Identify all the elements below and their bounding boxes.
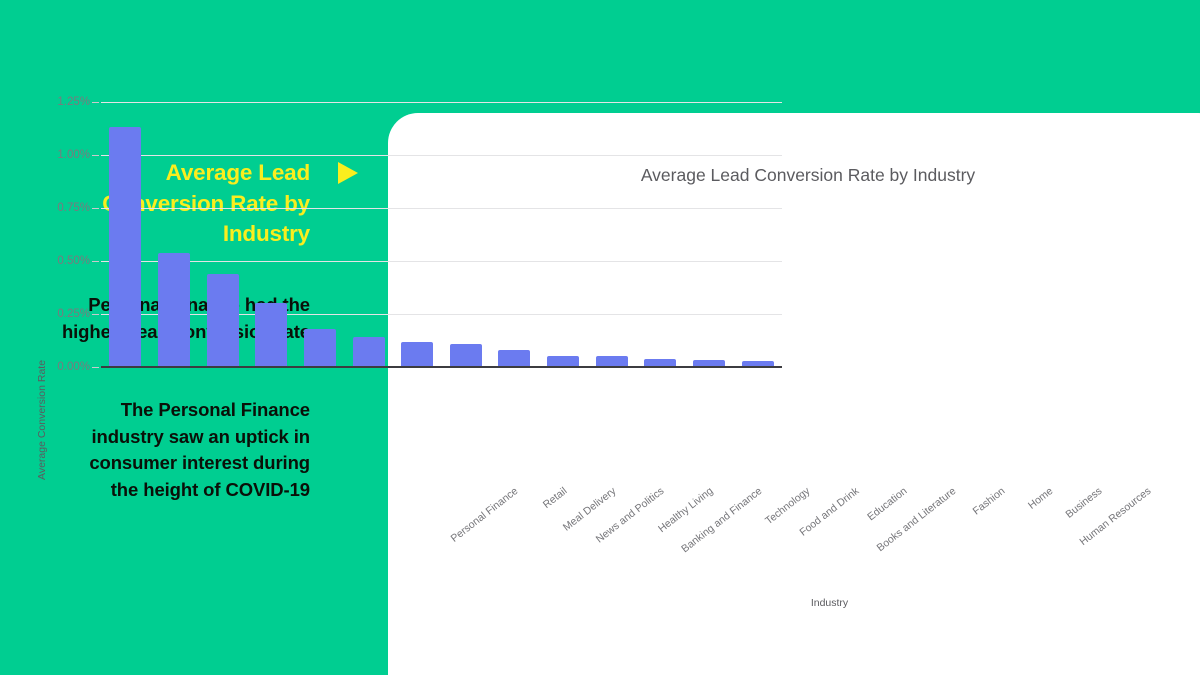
bar-slot [393,102,442,367]
bar-slot [296,102,345,367]
y-axis-tick-label: 0.00% [57,361,90,373]
x-axis-line [101,366,782,368]
y-axis-tick-mark [92,102,99,103]
bar[interactable] [401,342,433,367]
y-axis-tick-mark [92,314,99,315]
bar-slot [441,102,490,367]
x-axis-title: Industry [489,597,1170,609]
y-axis-title: Average Conversion Rate [36,215,48,480]
bar[interactable] [353,337,385,367]
y-axis-tick-mark [92,261,99,262]
bar[interactable] [498,350,530,367]
y-axis-tick-label: 1.00% [57,149,90,161]
y-axis-tick-mark [92,208,99,209]
insight-text-secondary: The Personal Finance industry saw an upt… [58,397,310,503]
bar[interactable] [158,253,190,367]
plot-area: 0.00%0.25%0.50%0.75%1.00%1.25% [101,102,782,367]
y-axis-tick-mark [92,155,99,156]
bar[interactable] [109,127,141,367]
x-axis-tick-label: Banking and Finance [679,485,764,555]
bar-series [101,102,782,367]
bar-slot [101,102,150,367]
x-axis-tick-label: Education [866,485,910,523]
y-axis-tick-mark [92,367,99,368]
bar-slot [685,102,734,367]
bar[interactable] [255,303,287,367]
bar-slot [733,102,782,367]
x-axis-tick-label: Fashion [970,485,1007,517]
bar[interactable] [207,274,239,367]
x-axis-tick-label: Home [1026,485,1055,512]
x-axis-tick-labels: Personal FinanceRetailMeal DeliveryNews … [489,482,1170,582]
bar-slot [587,102,636,367]
y-axis-tick-label: 0.50% [57,255,90,267]
bar-slot [198,102,247,367]
x-axis-tick-label: Business [1063,485,1104,521]
bar-slot [344,102,393,367]
bar-slot [150,102,199,367]
bar-slot [636,102,685,367]
bar-slot [490,102,539,367]
bar[interactable] [304,329,336,367]
x-axis-tick-label: Retail [541,485,570,511]
y-axis-tick-label: 0.75% [57,202,90,214]
y-axis-tick-label: 0.25% [57,308,90,320]
y-axis-tick-label: 1.25% [57,96,90,108]
bar-slot [247,102,296,367]
bar[interactable] [450,344,482,367]
x-axis-tick-label: Technology [763,485,812,527]
bar-slot [539,102,588,367]
